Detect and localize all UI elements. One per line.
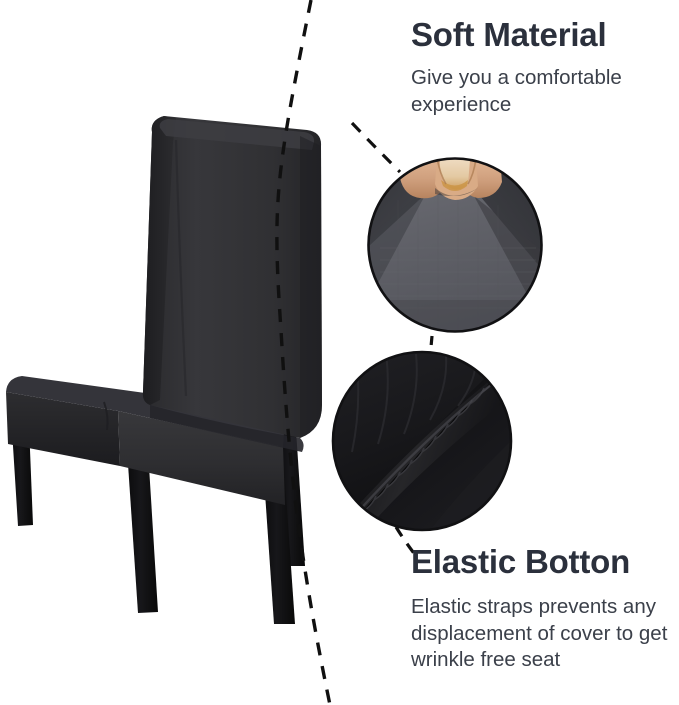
chair-illustration	[6, 116, 322, 624]
soft-material-body: Give you a comfortable experience	[411, 54, 673, 118]
elastic-bottom-text-block: Elastic Botton Elastic straps prevents a…	[411, 543, 677, 674]
soft-material-detail-circle	[366, 156, 546, 336]
elastic-bottom-heading: Elastic Botton	[411, 543, 677, 581]
product-infographic: Soft Material Give you a comfortable exp…	[0, 0, 679, 705]
soft-material-text-block: Soft Material Give you a comfortable exp…	[411, 16, 673, 118]
elastic-bottom-body: Elastic straps prevents any displacement…	[411, 581, 677, 673]
elastic-bottom-detail-circle	[332, 351, 512, 531]
soft-material-heading: Soft Material	[411, 16, 673, 54]
pinching-hand	[400, 156, 502, 200]
upper-callout-dash	[352, 123, 400, 172]
chair-back-right-shadow	[300, 136, 322, 438]
